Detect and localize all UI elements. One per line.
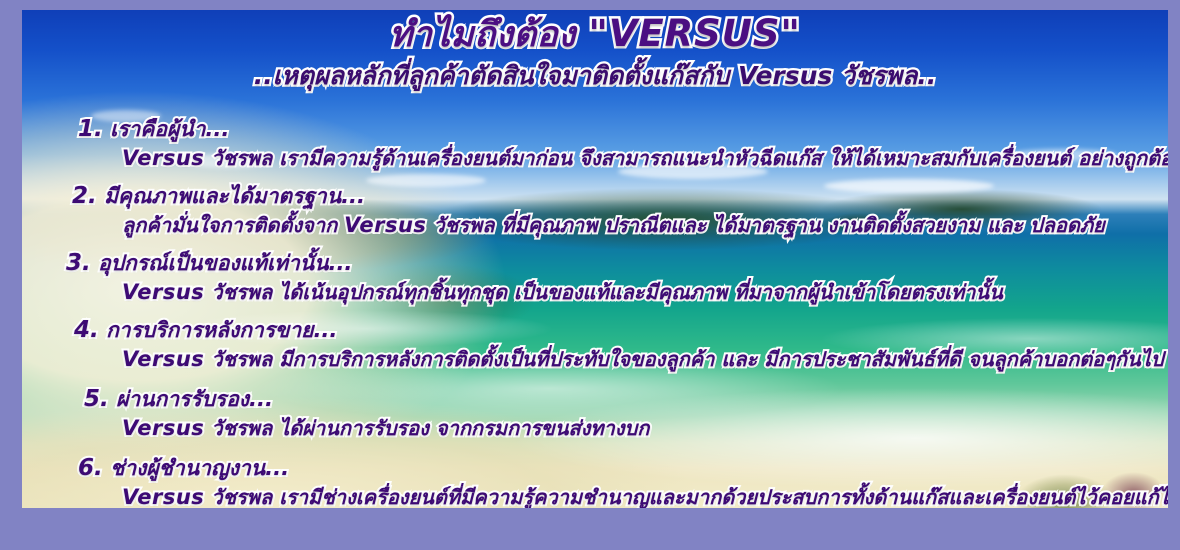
reason-heading: 6. ช่างผู้ชำนาญงาน...: [78, 453, 1168, 483]
reason-number: 6.: [78, 455, 103, 481]
reason-heading-text: มีคุณภาพและได้มาตรฐาน...: [104, 184, 365, 208]
reason-body: Versus วัชรพล เรามีความรู้ด้านเครื่องยนต…: [122, 144, 1168, 173]
reason-heading: 5. ผ่านการรับรอง...: [84, 384, 1168, 414]
title-quote-close: ": [780, 12, 800, 55]
list-item: 2. มีคุณภาพและได้มาตรฐาน... ลูกค้ามั่นใจ…: [22, 181, 1168, 240]
headline-block: ทำไมถึงต้อง "VERSUS" ..เหตุผลหลักที่ลูกค…: [22, 14, 1168, 91]
reason-number: 4.: [74, 317, 99, 343]
reason-number: 5.: [84, 386, 109, 412]
reason-list: 1. เราคือผู้นำ... Versus วัชรพล เรามีควา…: [22, 114, 1168, 508]
reason-body-prefix: ลูกค้ามั่นใจการติดตั้งจาก: [122, 213, 337, 237]
reason-brand: Versus: [122, 416, 204, 440]
title-quote-open: ": [588, 12, 608, 55]
reason-body-text: วัชรพล ได้เน้นอุปกรณ์ทุกชิ้นทุกชุด เป็นข…: [211, 280, 1003, 304]
reason-body: Versus วัชรพล ได้เน้นอุปกรณ์ทุกชิ้นทุกชุ…: [122, 278, 1168, 307]
subtitle-text: ..เหตุผลหลักที่ลูกค้าตัดสินใจมาติดตั้งแก…: [254, 61, 729, 90]
reason-body-text: วัชรพล ที่มีคุณภาพ ปราณีตและ ได้มาตรฐาน …: [433, 213, 1104, 237]
reason-brand: Versus: [122, 280, 204, 304]
beach-background-photo: ทำไมถึงต้อง "VERSUS" ..เหตุผลหลักที่ลูกค…: [22, 10, 1168, 508]
reason-heading-text: อุปกรณ์เป็นของแท้เท่านั้น...: [98, 251, 352, 275]
list-item: 3. อุปกรณ์เป็นของแท้เท่านั้น... Versus ว…: [22, 248, 1168, 307]
reason-body-text: วัชรพล มีการบริการหลังการติดตั้งเป็นที่ป…: [211, 347, 1163, 371]
reason-body-text: วัชรพล เรามีช่างเครื่องยนต์ที่มีความรู้ค…: [211, 485, 1168, 508]
versus-promo-banner: ทำไมถึงต้อง "VERSUS" ..เหตุผลหลักที่ลูกค…: [0, 0, 1180, 550]
reason-body: Versus วัชรพล ได้ผ่านการรับรอง จากกรมการ…: [122, 414, 1168, 443]
list-item: 1. เราคือผู้นำ... Versus วัชรพล เรามีควา…: [22, 114, 1168, 173]
page-subtitle: ..เหตุผลหลักที่ลูกค้าตัดสินใจมาติดตั้งแก…: [22, 61, 1168, 91]
subtitle-brand: Versus: [738, 61, 832, 90]
reason-heading: 4. การบริการหลังการขาย...: [74, 315, 1168, 345]
reason-body-text: วัชรพล เรามีความรู้ด้านเครื่องยนต์มาก่อน…: [211, 146, 1168, 170]
reason-brand: Versus: [122, 347, 204, 371]
reason-heading-text: การบริการหลังการขาย...: [106, 318, 337, 342]
reason-heading-text: เราคือผู้นำ...: [110, 117, 229, 141]
reason-brand: Versus: [344, 213, 426, 237]
reason-heading: 2. มีคุณภาพและได้มาตรฐาน...: [72, 181, 1168, 211]
reason-number: 2.: [72, 183, 97, 209]
list-item: 6. ช่างผู้ชำนาญงาน... Versus วัชรพล เราม…: [22, 453, 1168, 508]
page-title: ทำไมถึงต้อง "VERSUS": [22, 14, 1168, 55]
reason-number: 3.: [66, 250, 91, 276]
reason-number: 1.: [78, 116, 103, 142]
list-item: 4. การบริการหลังการขาย... Versus วัชรพล …: [22, 315, 1168, 374]
reason-heading: 1. เราคือผู้นำ...: [78, 114, 1168, 144]
reason-body-text: วัชรพล ได้ผ่านการรับรอง จากกรมการขนส่งทา…: [211, 416, 649, 440]
reason-body: Versus วัชรพล เรามีช่างเครื่องยนต์ที่มีค…: [122, 483, 1168, 508]
reason-heading-text: ผ่านการรับรอง...: [116, 387, 273, 411]
list-item: 5. ผ่านการรับรอง... Versus วัชรพล ได้ผ่า…: [22, 384, 1168, 443]
reason-brand: Versus: [122, 485, 204, 508]
reason-heading: 3. อุปกรณ์เป็นของแท้เท่านั้น...: [66, 248, 1168, 278]
reason-brand: Versus: [122, 146, 204, 170]
title-brand: VERSUS: [609, 12, 781, 55]
reason-heading-text: ช่างผู้ชำนาญงาน...: [110, 456, 289, 480]
reason-body: Versus วัชรพล มีการบริการหลังการติดตั้งเ…: [122, 345, 1168, 374]
title-thai-prefix: ทำไมถึงต้อง: [389, 15, 576, 55]
subtitle-tail: วัชรพล..: [841, 61, 936, 90]
reason-body: ลูกค้ามั่นใจการติดตั้งจาก Versus วัชรพล …: [122, 211, 1168, 240]
